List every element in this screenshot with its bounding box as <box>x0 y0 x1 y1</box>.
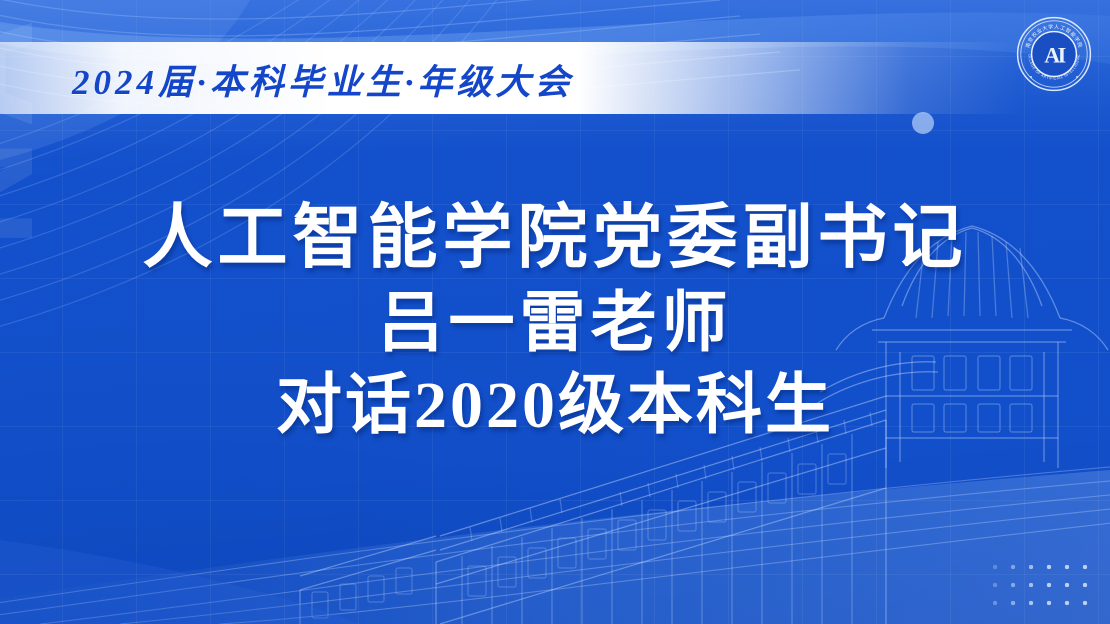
circle-accent-icon <box>912 112 934 134</box>
headline-line-2: 吕一雷老师 <box>0 283 1110 365</box>
college-logo: 南京农业大学人工智能学院 COLLEGE OF ARTIFICIAL INTEL… <box>1016 16 1092 92</box>
headline-line-1: 人工智能学院党委副书记 <box>0 196 1110 283</box>
headline-line-3: 对话2020级本科生 <box>0 365 1110 447</box>
header-band-title: 2024届·本科毕业生·年级大会 <box>72 50 574 108</box>
dot-grid-icon <box>984 556 1092 610</box>
svg-text:AI: AI <box>1044 43 1065 68</box>
poster-canvas: NAU 2024届·本科毕业生·年级大会 南京农业大学人工智能学院 COLLEG… <box>0 0 1110 624</box>
main-headline: 人工智能学院党委副书记 吕一雷老师 对话2020级本科生 <box>0 196 1110 446</box>
